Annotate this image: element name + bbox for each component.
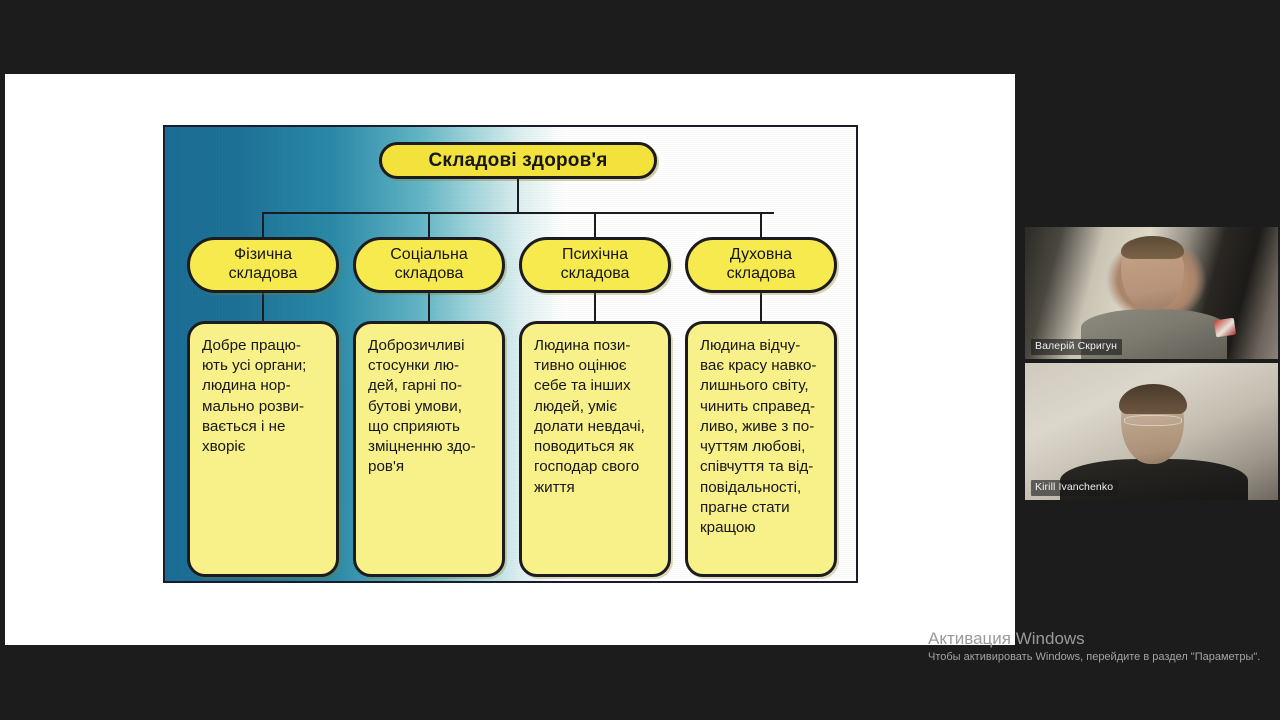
connector-stem-2 — [428, 293, 430, 321]
windows-activation-watermark: Активация Windows Чтобы активировать Win… — [928, 628, 1268, 665]
category-label-line1: Духовна — [730, 246, 792, 265]
participant-hair — [1121, 236, 1184, 258]
participant-glasses — [1124, 415, 1182, 426]
category-label-line2: складова — [395, 265, 464, 284]
category-pill-psykhichna: Психічна складова — [519, 237, 671, 293]
diagram-title-text: Складові здоров'я — [428, 150, 607, 172]
category-label-line1: Фізична — [234, 246, 292, 265]
health-components-diagram: Складові здоров'я Фізична складова Соціа… — [163, 125, 858, 583]
category-label-line2: складова — [229, 265, 298, 284]
connector-drop-1 — [262, 212, 264, 237]
watermark-subtitle: Чтобы активировать Windows, перейдите в … — [928, 650, 1268, 665]
screen-root: Складові здоров'я Фізична складова Соціа… — [0, 0, 1280, 720]
participant-hair — [1119, 384, 1187, 414]
connector-drop-3 — [594, 212, 596, 237]
participant-tile-2[interactable]: Kirill Ivanchenko — [1025, 363, 1278, 500]
connector-stem-3 — [594, 293, 596, 321]
diagram-title-pill: Складові здоров'я — [379, 142, 657, 179]
connector-drop-4 — [760, 212, 762, 237]
participant-sleeve-badge — [1214, 318, 1236, 338]
connector-drop-2 — [428, 212, 430, 237]
category-pill-fizychna: Фізична складова — [187, 237, 339, 293]
connector-stem-4 — [760, 293, 762, 321]
participant-tile-1[interactable]: Валерій Скригун — [1025, 227, 1278, 359]
watermark-title: Активация Windows — [928, 628, 1268, 649]
category-label-line2: складова — [727, 265, 796, 284]
category-pill-dukhovna: Духовна складова — [685, 237, 837, 293]
category-pill-sotsialna: Соціальна складова — [353, 237, 505, 293]
description-text: Добре працю- ють усі органи; людина нор-… — [202, 336, 326, 457]
description-text: Людина відчу- ває красу навко- лишнього … — [700, 336, 824, 538]
connector-trunk-vertical — [517, 179, 519, 212]
category-label-line1: Психічна — [562, 246, 628, 265]
participant-name-label: Kirill Ivanchenko — [1031, 480, 1118, 496]
description-box-dukhovna: Людина відчу- ває красу навко- лишнього … — [685, 321, 837, 577]
presentation-slide: Складові здоров'я Фізична складова Соціа… — [5, 74, 1015, 645]
connector-bus-horizontal — [262, 212, 774, 214]
description-box-sotsialna: Доброзичливі стосунки лю- дей, гарні по-… — [353, 321, 505, 577]
participant-name-label: Валерій Скригун — [1031, 339, 1122, 355]
connector-stem-1 — [262, 293, 264, 321]
description-text: Людина пози- тивно оцінює себе та інших … — [534, 336, 658, 498]
description-text: Доброзичливі стосунки лю- дей, гарні по-… — [368, 336, 492, 478]
category-label-line1: Соціальна — [390, 246, 467, 265]
description-box-psykhichna: Людина пози- тивно оцінює себе та інших … — [519, 321, 671, 577]
category-label-line2: складова — [561, 265, 630, 284]
description-box-fizychna: Добре працю- ють усі органи; людина нор-… — [187, 321, 339, 577]
